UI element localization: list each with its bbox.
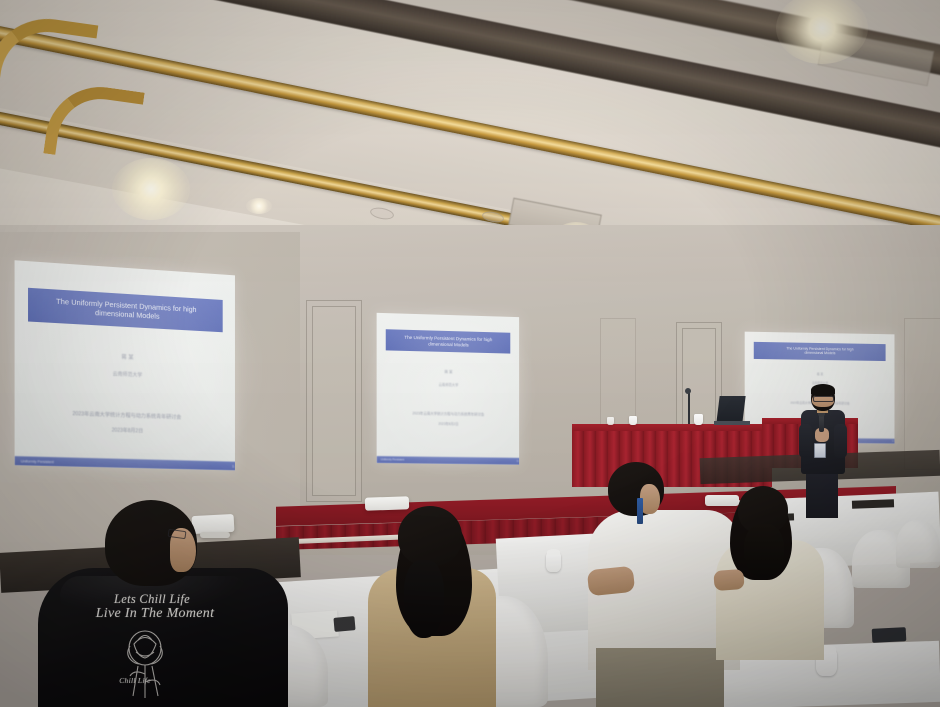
presenter-badge (814, 443, 826, 458)
slide-date-1: 2023年8月2日 (112, 426, 143, 434)
laptop-base (714, 421, 750, 425)
conference-room-photo: The Uniformly Persistent Dynamics for hi… (0, 0, 940, 707)
projector-center (365, 496, 409, 511)
slide-content-1: The Uniformly Persistent Dynamics for hi… (15, 260, 235, 470)
projector-stand (200, 532, 230, 538)
attendee-center-ponytail (404, 560, 444, 638)
chair-cover-right-4 (896, 520, 940, 568)
slide-title-line2-3: dimensional Models (805, 351, 836, 356)
microphone-stand (688, 392, 690, 424)
slide-affiliation-2: 云南师范大学 (439, 382, 459, 387)
center-projection-screen: The Uniformly Persistent Dynamics for hi… (377, 313, 519, 465)
presenter-legs (806, 470, 838, 518)
slide-footer-left-1: Uniformly Persistent (21, 459, 54, 464)
slide-event-1: 2023年云南大学统计方程与动力系统青年研讨会 (72, 410, 181, 421)
slide-footer-page-3: 1 / 30 (892, 440, 894, 442)
wall-pillar (262, 262, 302, 522)
slide-title-3: The Uniformly Persistent Dynamics for hi… (754, 342, 886, 361)
teacup-head-table-2 (629, 416, 637, 425)
attendee-right-male-arm (587, 566, 635, 597)
attendee-right-female-arm (713, 569, 744, 591)
slide-footer-left-2: Uniformly Persistent (381, 458, 404, 461)
presenter-glasses (813, 396, 834, 402)
table-gap-right (852, 499, 894, 508)
teacup-lid-mid (547, 549, 560, 555)
wall-panel-1-inner (312, 306, 356, 496)
left-projection-screen: The Uniformly Persistent Dynamics for hi… (15, 260, 235, 470)
teacup-head-table-1 (694, 414, 703, 425)
slide-footer-page-1: 1 / 30 (232, 464, 235, 468)
presenter-arm-right (834, 424, 847, 458)
slide-author-2: 蒋 某 (444, 370, 452, 375)
ceiling-light-6 (246, 198, 272, 214)
smartphone-foreground (872, 627, 907, 643)
teacup-head-table-3 (607, 417, 614, 425)
slide-title-1: The Uniformly Persistent Dynamics for hi… (28, 288, 222, 332)
ceiling-light-2 (112, 158, 190, 220)
slide-author-3: 蒋 某 (817, 372, 824, 376)
attendee-center-head (398, 506, 462, 566)
slide-footer-page-2: 1 / 30 (517, 460, 519, 463)
slide-date-2: 2023年8月2日 (438, 421, 458, 426)
attendee-right-female-hair-length (744, 524, 784, 578)
laptop-screen (716, 396, 745, 423)
lanyard (637, 498, 643, 524)
projector-right (705, 495, 739, 506)
slide-title-2: The Uniformly Persistent Dynamics for hi… (385, 329, 510, 354)
microphone-head (685, 388, 691, 394)
slide-title-line2-2: dimensional Models (428, 341, 468, 347)
presenter-hair (811, 384, 835, 396)
slide-content-2: The Uniformly Persistent Dynamics for hi… (377, 313, 519, 465)
teacup-mid (546, 553, 561, 572)
attendee-right-male-face (640, 484, 660, 514)
wall-panel-4 (904, 318, 940, 470)
slide-author-1: 蒋 某 (121, 352, 133, 361)
slide-affiliation-1: 云南师范大学 (113, 370, 143, 378)
presenter-arm-left (799, 424, 812, 458)
attendee-right-male-trousers (596, 648, 724, 707)
slide-event-2: 2023年云南大学统计方程与动力系统青年研讨会 (412, 411, 484, 417)
smartphone (333, 616, 355, 632)
